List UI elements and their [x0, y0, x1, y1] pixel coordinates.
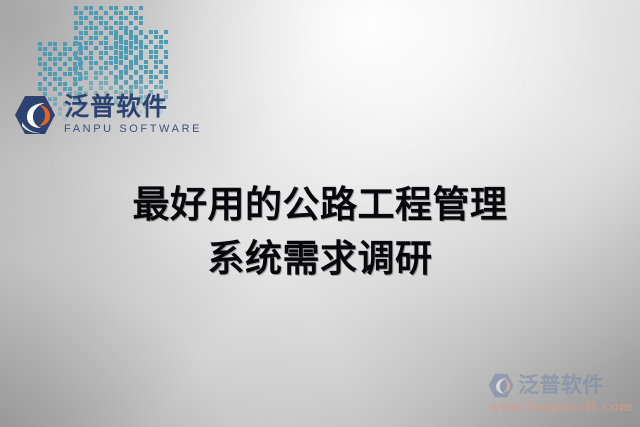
skyline-pixel: [94, 46, 98, 50]
skyline-pixel: [144, 70, 148, 74]
skyline-pixel: [48, 82, 52, 86]
skyline-pixel: [43, 77, 47, 81]
watermark: 泛普软件 www.fanpusoft.com: [488, 373, 634, 415]
watermark-url: www.fanpusoft.com: [488, 400, 634, 415]
skyline-pixel: [38, 87, 42, 91]
skyline-pixel: [159, 40, 163, 44]
skyline-pixel: [79, 21, 83, 25]
skyline-pixel: [134, 16, 138, 20]
skyline-pixel: [99, 6, 103, 10]
skyline-pixel: [48, 67, 52, 71]
skyline-pixel: [79, 36, 83, 40]
skyline-pixel: [84, 56, 88, 60]
skyline-pixel: [159, 70, 163, 74]
skyline-pixel: [99, 66, 103, 70]
skyline-pixel: [114, 35, 118, 39]
skyline-pixel: [94, 61, 98, 65]
skyline-pixel: [63, 52, 67, 56]
skyline-pixel: [134, 40, 138, 44]
skyline-pixel: [89, 6, 93, 10]
skyline-pixel: [149, 30, 153, 34]
skyline-pixel: [74, 36, 78, 40]
skyline-pixel: [58, 82, 62, 86]
skyline-pixel: [149, 50, 153, 54]
skyline-pixel: [43, 47, 47, 51]
skyline-pixel: [74, 81, 78, 85]
skyline-pixel: [114, 45, 118, 49]
skyline-pixel: [104, 61, 108, 65]
skyline-pixel: [144, 45, 148, 49]
skyline-pixel: [68, 67, 72, 71]
hexagon-swoosh-logo-icon: [488, 373, 514, 398]
skyline-pixel: [159, 60, 163, 64]
skyline-pixel: [58, 77, 62, 81]
skyline-pixel: [68, 47, 72, 51]
skyline-pixel: [74, 11, 78, 15]
skyline-pixel: [89, 86, 93, 90]
skyline-pixel: [53, 47, 57, 51]
skyline-pixel: [114, 75, 118, 79]
skyline-pixel: [99, 21, 103, 25]
skyline-pixel: [43, 62, 47, 66]
skyline-pixel: [84, 71, 88, 75]
skyline-pixel: [154, 85, 158, 89]
skyline-pixel: [124, 30, 128, 34]
skyline-pixel: [134, 85, 138, 89]
skyline-pixel: [139, 40, 143, 44]
skyline-pixel: [129, 75, 133, 79]
skyline-pixel: [164, 30, 168, 34]
skyline-pixel: [89, 61, 93, 65]
skyline-pixel: [79, 66, 83, 70]
skyline-pixel: [124, 70, 128, 74]
skyline-pixel: [119, 16, 123, 20]
skyline-pixel: [129, 50, 133, 54]
skyline-pixel: [84, 16, 88, 20]
skyline-pixel: [154, 50, 158, 54]
skyline-pixel: [139, 55, 143, 59]
skyline-pixel: [84, 6, 88, 10]
skyline-pixel: [104, 51, 108, 55]
skyline-pixel: [79, 61, 83, 65]
skyline-pixel: [119, 45, 123, 49]
skyline-pixel: [48, 57, 52, 61]
skyline-pixel: [99, 86, 103, 90]
skyline-pixel: [124, 80, 128, 84]
skyline-pixel: [38, 82, 42, 86]
skyline-pixel: [58, 52, 62, 56]
skyline-pixel: [109, 26, 113, 30]
skyline-pixel: [94, 16, 98, 20]
skyline-pixel: [149, 55, 153, 59]
skyline-pixel: [84, 31, 88, 35]
skyline-pixel: [129, 65, 133, 69]
skyline-pixel: [109, 6, 113, 10]
skyline-pixel: [38, 47, 42, 51]
skyline-pixel: [149, 75, 153, 79]
skyline-pixel: [104, 26, 108, 30]
skyline-pixel: [79, 86, 83, 90]
skyline-pixel: [134, 60, 138, 64]
skyline-pixel: [164, 70, 168, 74]
skyline-pixel: [63, 42, 67, 46]
skyline-pixel: [114, 60, 118, 64]
hexagon-swoosh-logo-icon: [14, 95, 56, 135]
skyline-pixel: [119, 21, 123, 25]
skyline-pixel: [139, 50, 143, 54]
skyline-pixel: [109, 56, 113, 60]
skyline-pixel: [74, 56, 78, 60]
skyline-pixel: [139, 75, 143, 79]
skyline-pixel: [154, 45, 158, 49]
skyline-pixel: [109, 16, 113, 20]
skyline-pixel: [68, 87, 72, 91]
skyline-pixel: [119, 85, 123, 89]
skyline-pixel: [114, 21, 118, 25]
watermark-name-cn: 泛普软件: [518, 375, 604, 396]
skyline-pixel: [58, 67, 62, 71]
skyline-pixel: [139, 16, 143, 20]
skyline-pixel: [134, 70, 138, 74]
skyline-pixel: [139, 80, 143, 84]
skyline-pixel: [74, 66, 78, 70]
skyline-pixel: [114, 80, 118, 84]
skyline-pixel: [129, 30, 133, 34]
skyline-pixel: [79, 51, 83, 55]
skyline-pixel: [124, 55, 128, 59]
skyline-pixel: [84, 26, 88, 30]
skyline-pixel: [154, 30, 158, 34]
skyline-pixel: [114, 11, 118, 15]
skyline-pixel: [134, 11, 138, 15]
skyline-pixel: [154, 35, 158, 39]
skyline-pixel: [94, 76, 98, 80]
skyline-pixel: [114, 65, 118, 69]
skyline-pixel: [154, 60, 158, 64]
skyline-pixel: [124, 65, 128, 69]
skyline-pixel: [104, 81, 108, 85]
skyline-pixel: [139, 6, 143, 10]
skyline-pixel: [149, 80, 153, 84]
skyline-pixel: [164, 75, 168, 79]
skyline-pixel: [79, 31, 83, 35]
skyline-pixel: [58, 57, 62, 61]
skyline-pixel: [119, 26, 123, 30]
skyline-pixel: [53, 77, 57, 81]
skyline-pixel: [63, 87, 67, 91]
skyline-pixel: [99, 81, 103, 85]
skyline-pixel: [144, 65, 148, 69]
skyline-pixel: [114, 30, 118, 34]
skyline-pixel: [109, 71, 113, 75]
skyline-pixel: [119, 55, 123, 59]
skyline-pixel: [38, 42, 42, 46]
skyline-pixel: [109, 86, 113, 90]
skyline-pixel: [104, 36, 108, 40]
skyline-pixel: [134, 46, 138, 50]
skyline-pixel: [124, 50, 128, 54]
skyline-pixel: [63, 47, 67, 51]
skyline-pixel: [104, 76, 108, 80]
skyline-pixel: [134, 26, 138, 30]
page-title: 最好用的公路工程管理 系统需求调研: [0, 178, 640, 286]
skyline-pixel: [129, 85, 133, 89]
skyline-pixel: [159, 45, 163, 49]
skyline-pixel: [89, 11, 93, 15]
skyline-pixel: [89, 51, 93, 55]
brand-name-en: FANPU SOFTWARE: [64, 124, 202, 135]
skyline-pixel: [119, 11, 123, 15]
skyline-pixel: [84, 41, 88, 45]
skyline-pixel: [43, 67, 47, 71]
promo-banner: 泛普软件 FANPU SOFTWARE 最好用的公路工程管理 系统需求调研 泛普…: [0, 0, 640, 427]
skyline-pixel: [63, 62, 67, 66]
skyline-pixel: [89, 36, 93, 40]
skyline-pixel: [134, 35, 138, 39]
skyline-pixel: [154, 75, 158, 79]
skyline-pixel: [53, 87, 57, 91]
skyline-pixel: [89, 21, 93, 25]
skyline-pixel: [134, 80, 138, 84]
skyline-pixel: [48, 42, 52, 46]
skyline-pixel: [114, 6, 118, 10]
skyline-pixel: [48, 52, 52, 56]
skyline-pixel: [114, 50, 118, 54]
skyline-pixel: [119, 75, 123, 79]
skyline-pixel: [53, 62, 57, 66]
skyline-pixel: [94, 71, 98, 75]
skyline-pixel: [38, 57, 42, 61]
skyline-pixel: [139, 45, 143, 49]
skyline-pixel: [53, 72, 57, 76]
skyline-pixel: [74, 21, 78, 25]
skyline-pixel: [74, 26, 78, 30]
skyline-pixel: [99, 71, 103, 75]
skyline-pixel: [144, 35, 148, 39]
skyline-pixel: [48, 72, 52, 76]
skyline-pixel: [124, 6, 128, 10]
skyline-pixel: [99, 41, 103, 45]
skyline-pixel: [129, 35, 133, 39]
skyline-pixel: [104, 41, 108, 45]
skyline-pixel: [89, 56, 93, 60]
skyline-pixel: [129, 11, 133, 15]
skyline-pixel: [109, 61, 113, 65]
skyline-pixel: [94, 31, 98, 35]
skyline-pixel: [164, 40, 168, 44]
skyline-pixel: [129, 45, 133, 49]
skyline-pixel: [154, 55, 158, 59]
skyline-pixel: [94, 11, 98, 15]
page-title-line-1: 最好用的公路工程管理: [0, 178, 640, 232]
skyline-pixel: [38, 72, 42, 76]
skyline-pixel: [149, 70, 153, 74]
skyline-pixel: [99, 31, 103, 35]
skyline-pixel: [119, 70, 123, 74]
skyline-pixel: [53, 42, 57, 46]
skyline-pixel: [99, 16, 103, 20]
skyline-pixel: [139, 30, 143, 34]
skyline-pixel: [43, 52, 47, 56]
skyline-pixel: [104, 11, 108, 15]
skyline-pixel: [159, 35, 163, 39]
skyline-pixel: [119, 35, 123, 39]
skyline-pixel: [53, 57, 57, 61]
skyline-pixel: [139, 65, 143, 69]
skyline-pixel: [74, 51, 78, 55]
skyline-pixel: [104, 21, 108, 25]
skyline-pixel: [159, 85, 163, 89]
skyline-pixel: [89, 66, 93, 70]
skyline-pixel: [134, 55, 138, 59]
watermark-logo-row: 泛普软件: [488, 373, 634, 398]
skyline-pixel: [63, 72, 67, 76]
skyline-pixel: [164, 65, 168, 69]
brand-logo: 泛普软件 FANPU SOFTWARE: [14, 94, 202, 135]
skyline-pixel: [109, 31, 113, 35]
skyline-pixel: [119, 60, 123, 64]
skyline-pixel: [38, 62, 42, 66]
skyline-pixel: [89, 26, 93, 30]
skyline-pixel: [89, 41, 93, 45]
pixel-skyline-graphic: [38, 2, 174, 88]
skyline-pixel: [129, 60, 133, 64]
skyline-pixel: [104, 66, 108, 70]
skyline-pixel: [84, 46, 88, 50]
skyline-pixel: [99, 56, 103, 60]
skyline-pixel: [129, 21, 133, 25]
skyline-pixel: [74, 71, 78, 75]
skyline-pixel: [99, 51, 103, 55]
skyline-pixel: [68, 57, 72, 61]
skyline-pixel: [124, 40, 128, 44]
skyline-pixel: [68, 72, 72, 76]
skyline-pixel: [84, 76, 88, 80]
skyline-pixel: [74, 6, 78, 10]
brand-name-cn: 泛普软件: [64, 94, 202, 119]
skyline-pixel: [63, 82, 67, 86]
skyline-pixel: [144, 85, 148, 89]
skyline-pixel: [79, 11, 83, 15]
skyline-pixel: [104, 46, 108, 50]
skyline-pixel: [144, 60, 148, 64]
skyline-pixel: [89, 81, 93, 85]
skyline-pixel: [79, 16, 83, 20]
skyline-pixel: [164, 50, 168, 54]
skyline-pixel: [109, 46, 113, 50]
skyline-pixel: [124, 16, 128, 20]
skyline-pixel: [129, 6, 133, 10]
brand-wordmark: 泛普软件 FANPU SOFTWARE: [64, 94, 202, 135]
skyline-pixel: [119, 40, 123, 44]
skyline-pixel: [79, 46, 83, 50]
page-title-line-2: 系统需求调研: [0, 232, 640, 286]
skyline-pixel: [94, 26, 98, 30]
skyline-pixel: [94, 36, 98, 40]
skyline-pixel: [43, 87, 47, 91]
skyline-pixel: [159, 80, 163, 84]
skyline-pixel: [164, 55, 168, 59]
skyline-pixel: [74, 41, 78, 45]
skyline-pixel: [79, 76, 83, 80]
skyline-pixel: [149, 40, 153, 44]
skyline-pixel: [154, 65, 158, 69]
skyline-pixel: [139, 21, 143, 25]
